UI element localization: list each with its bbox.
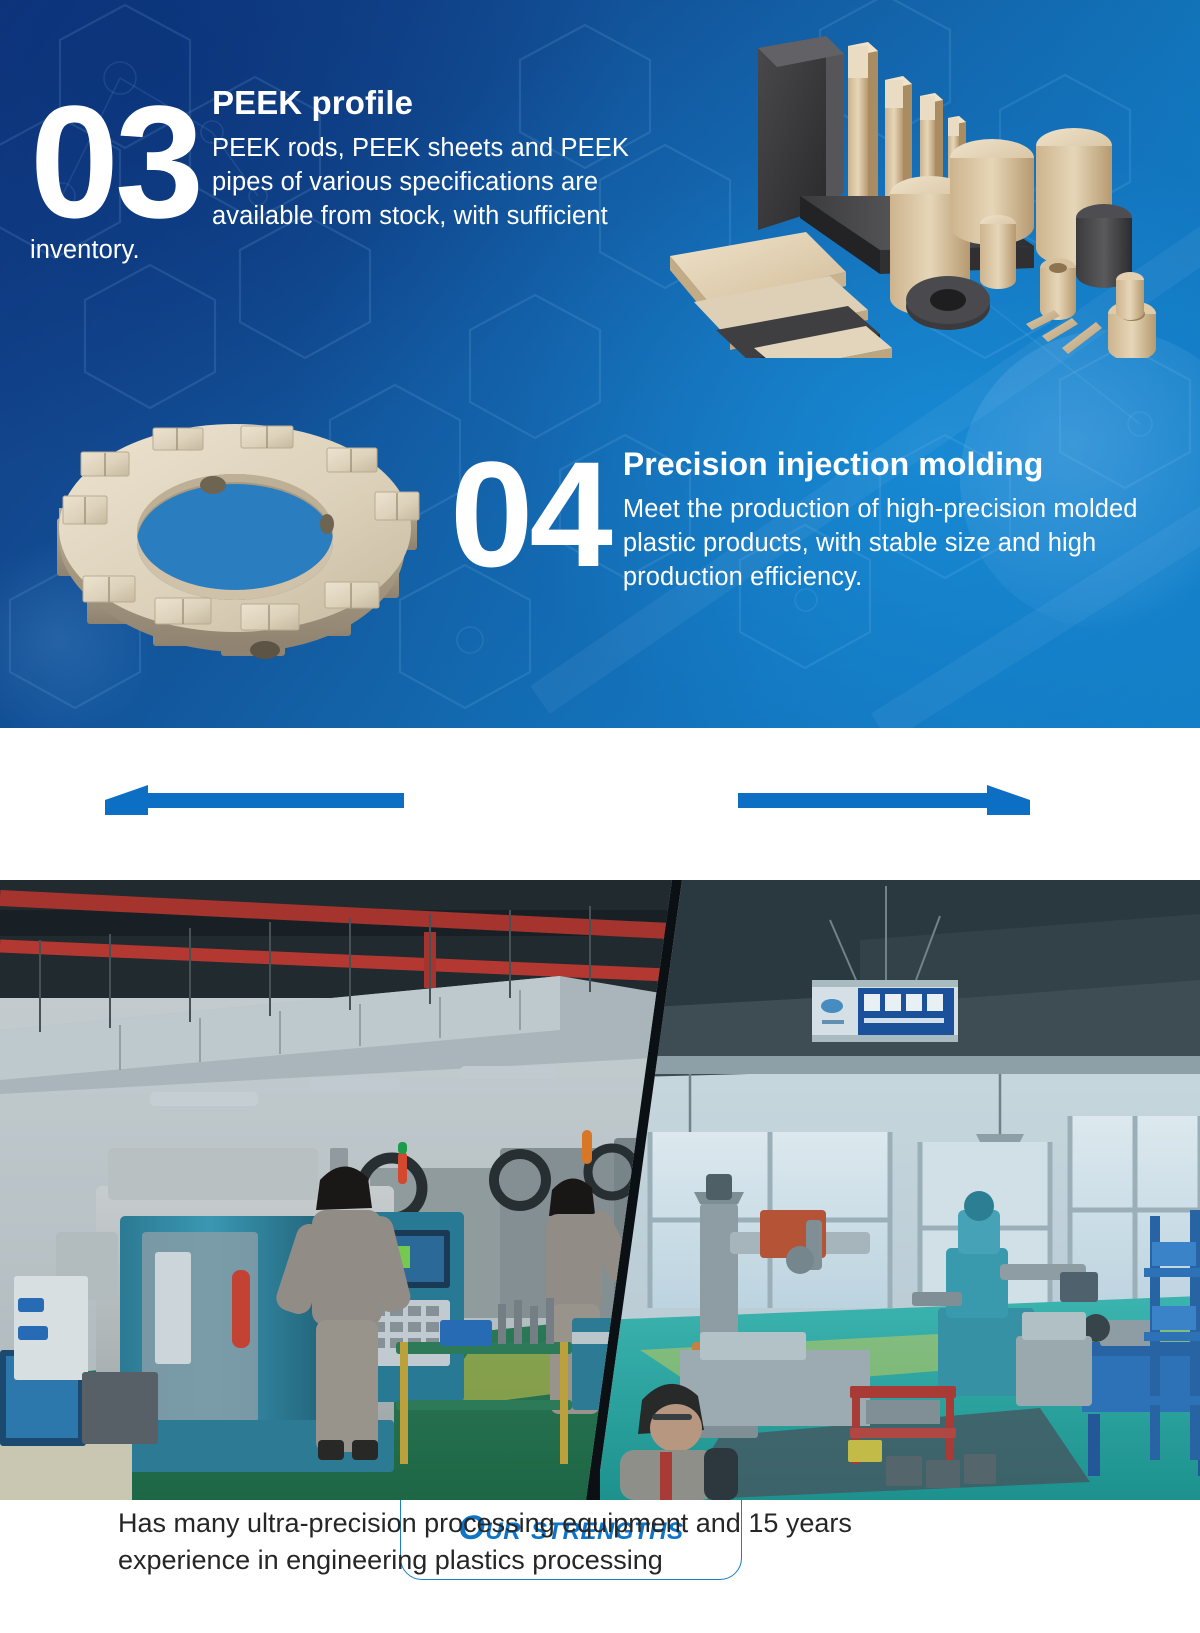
cnc-machining-workshop-photo xyxy=(0,880,690,1500)
block-number-03: 03 xyxy=(30,92,200,233)
caption-line-1: Has many ultra-precision processing equi… xyxy=(118,1505,1118,1542)
block-number-04: 04 xyxy=(450,448,609,580)
arrow-right-icon xyxy=(738,785,1030,815)
double-arrow-divider xyxy=(0,728,1200,878)
factory-photo-strip xyxy=(0,880,1200,1500)
peek-profile-products-photo xyxy=(630,18,1190,358)
peek-gear-ring-photo xyxy=(35,400,445,685)
hero-section: 03 PEEK profile PEEK rods, PEEK sheets a… xyxy=(0,0,1200,728)
arrow-left-icon xyxy=(105,785,404,815)
bottom-caption: Has many ultra-precision processing equi… xyxy=(118,1505,1118,1580)
our-strengths-banner: Our strengths xyxy=(0,728,1200,878)
hero-block-03: 03 PEEK profile PEEK rods, PEEK sheets a… xyxy=(30,78,650,268)
hero-block-04: 04 Precision injection molding Meet the … xyxy=(450,440,1150,595)
caption-line-2: experience in engineering plastics proce… xyxy=(118,1542,1118,1579)
